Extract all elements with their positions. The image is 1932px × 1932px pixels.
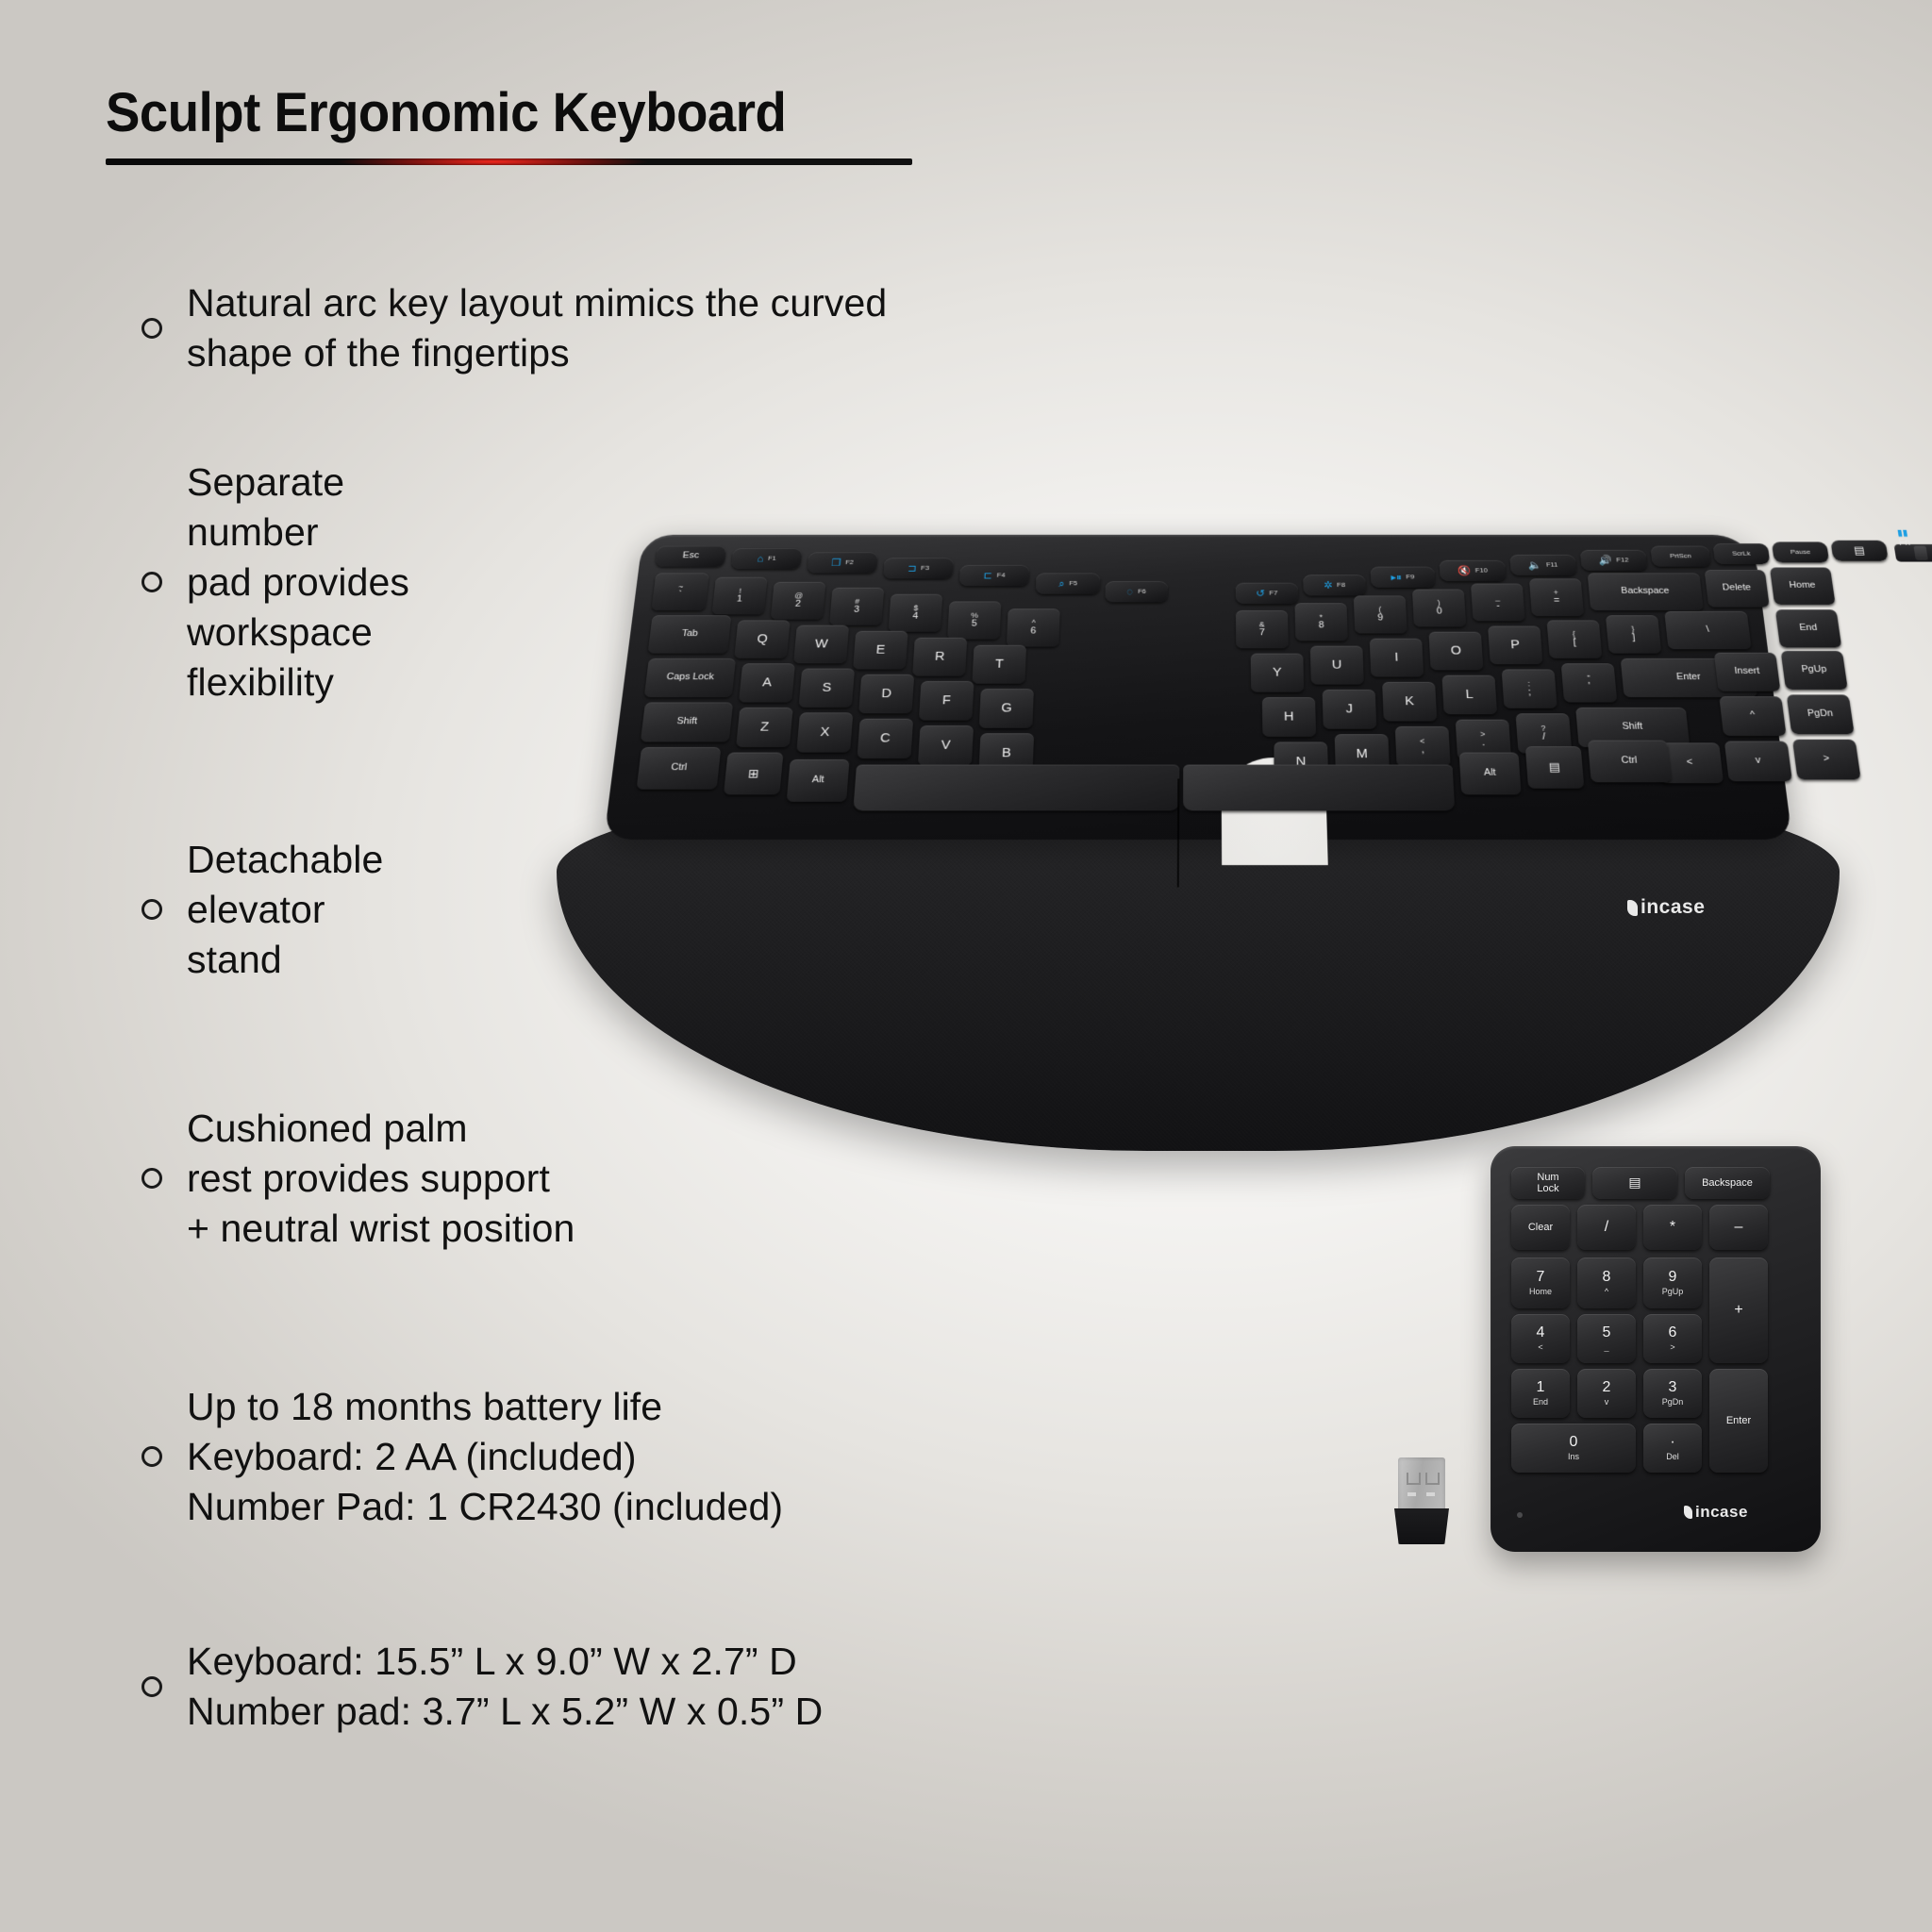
bullet-arc-layout: Natural arc key layout mimics the curved… xyxy=(142,278,887,378)
chevron-left-icon: < xyxy=(1686,758,1692,768)
bullet-text: Separate number pad provides workspace f… xyxy=(187,458,409,707)
key-f9[interactable]: ▸⏸F9 xyxy=(1371,567,1436,588)
key-ctrl-left[interactable]: Ctrl xyxy=(637,747,722,790)
volume-down-icon: 🔈 xyxy=(1528,560,1542,571)
windows-icon: ⊞ xyxy=(747,767,759,780)
key-pause[interactable]: Pause xyxy=(1772,541,1829,562)
menu-icon: ▤ xyxy=(1548,761,1560,774)
key-r[interactable]: R xyxy=(912,638,967,676)
key-f2[interactable]: ❐F2 xyxy=(807,552,877,573)
bullet-battery-life: Up to 18 months battery life Keyboard: 2… xyxy=(142,1382,783,1532)
key-h[interactable]: H xyxy=(1262,697,1316,737)
key-prtscn[interactable]: PrtScn xyxy=(1650,546,1710,567)
fn-toggle-knob xyxy=(1913,546,1928,560)
key-9[interactable]: ( 9 xyxy=(1354,595,1407,633)
key-f12[interactable]: 🔊F12 xyxy=(1580,550,1648,571)
key-i[interactable]: I xyxy=(1370,639,1424,677)
bullet-text: Cushioned palm rest provides support + n… xyxy=(187,1104,575,1254)
bullet-palm-rest: Cushioned palm rest provides support + n… xyxy=(142,1104,575,1254)
play-pause-icon: ▸⏸ xyxy=(1391,572,1402,582)
key-arrow-up[interactable]: ^ xyxy=(1719,696,1786,736)
key-2[interactable]: @ 2 xyxy=(771,582,826,620)
padkey-decimal[interactable]: · Del xyxy=(1643,1424,1702,1473)
bullet-dimensions: Keyboard: 15.5” L x 9.0” W x 2.7” D Numb… xyxy=(142,1637,823,1737)
chevron-down-icon: v xyxy=(1755,756,1761,766)
bullet-marker-icon xyxy=(142,318,162,339)
usb-slot-icon xyxy=(1425,1473,1440,1485)
key-q[interactable]: Q xyxy=(734,620,790,658)
key-f11[interactable]: 🔈F11 xyxy=(1509,555,1576,575)
key-f8[interactable]: ✲F8 xyxy=(1303,575,1366,595)
key-arrow-right[interactable]: > xyxy=(1792,740,1861,780)
bullet-marker-icon xyxy=(142,572,162,592)
padkey-clear[interactable]: Clear xyxy=(1511,1205,1570,1250)
key-y[interactable]: Y xyxy=(1251,654,1305,692)
key-menu[interactable]: ▤ xyxy=(1525,746,1585,789)
padkey-calculator[interactable]: ▤ xyxy=(1592,1167,1677,1199)
padkey-1[interactable]: 1 End xyxy=(1511,1369,1570,1418)
padkey-multiply[interactable]: * xyxy=(1643,1205,1702,1250)
search-icon: ⌕ xyxy=(1058,578,1065,589)
home-icon: ⌂ xyxy=(757,554,764,564)
padkey-3[interactable]: 3 PgDn xyxy=(1643,1369,1702,1418)
padkey-2[interactable]: 2 v xyxy=(1577,1369,1636,1418)
padkey-add[interactable]: + xyxy=(1709,1257,1768,1363)
usb-slot-icon xyxy=(1407,1473,1421,1485)
key-shift-left[interactable]: Shift xyxy=(641,703,733,742)
key-equals[interactable]: + = xyxy=(1529,578,1584,616)
window-icon: ❐ xyxy=(831,558,841,568)
mute-icon: 🔇 xyxy=(1457,566,1472,576)
key-1[interactable]: ! 1 xyxy=(711,577,767,615)
key-z[interactable]: Z xyxy=(736,708,793,747)
key-minus[interactable]: _ - xyxy=(1471,584,1525,622)
pad-status-led xyxy=(1517,1512,1523,1518)
number-pad-product-image: Num Lock ▤ Backspace Clear / * – 7 Home … xyxy=(1491,1146,1821,1552)
infographic-page: Sculpt Ergonomic Keyboard Natural arc ke… xyxy=(0,0,1932,1932)
key-backspace[interactable]: Backspace xyxy=(1588,573,1704,610)
key-bracket-left[interactable]: {[ xyxy=(1547,620,1603,658)
key-f[interactable]: F xyxy=(919,681,974,721)
key-s[interactable]: S xyxy=(799,669,856,708)
key-delete[interactable]: Delete xyxy=(1705,570,1770,608)
padkey-6[interactable]: 6 > xyxy=(1643,1314,1702,1363)
key-end[interactable]: End xyxy=(1775,609,1841,647)
key-bracket-right[interactable]: }] xyxy=(1606,615,1661,653)
key-j[interactable]: J xyxy=(1323,690,1377,729)
key-e[interactable]: E xyxy=(853,631,908,670)
chevron-right-icon: > xyxy=(1823,755,1830,765)
key-comma[interactable]: <, xyxy=(1395,726,1451,766)
key-alt-left[interactable]: Alt xyxy=(787,759,850,802)
key-0[interactable]: ) 0 xyxy=(1412,590,1466,627)
bullet-text: Up to 18 months battery life Keyboard: 2… xyxy=(187,1382,783,1532)
padkey-0[interactable]: 0 Ins xyxy=(1511,1424,1636,1473)
key-quote[interactable]: "' xyxy=(1561,663,1618,702)
padkey-divide[interactable]: / xyxy=(1577,1205,1636,1250)
key-o[interactable]: O xyxy=(1428,632,1483,671)
key-7[interactable]: & 7 xyxy=(1236,610,1289,648)
share-circle-icon: ◌ xyxy=(1126,587,1133,597)
key-f5[interactable]: ⌕F5 xyxy=(1036,573,1101,593)
key-4[interactable]: $ 4 xyxy=(889,594,943,632)
bullet-text: Natural arc key layout mimics the curved… xyxy=(187,278,887,378)
key-f10[interactable]: 🔇F10 xyxy=(1440,560,1507,581)
key-k[interactable]: K xyxy=(1382,682,1437,722)
share-left-icon: ⊐ xyxy=(908,563,917,574)
key-t[interactable]: T xyxy=(972,645,1026,684)
key-f3[interactable]: ⊐F3 xyxy=(883,558,954,578)
padkey-7[interactable]: 7 Home xyxy=(1511,1257,1570,1308)
title-underline-rule xyxy=(106,158,912,165)
key-u[interactable]: U xyxy=(1310,646,1364,685)
bullet-text: Keyboard: 15.5” L x 9.0” W x 2.7” D Numb… xyxy=(187,1637,823,1737)
bullet-text: Detachable elevator stand xyxy=(187,835,383,985)
key-pgup[interactable]: PgUp xyxy=(1781,651,1848,690)
key-x[interactable]: X xyxy=(796,712,853,752)
key-v[interactable]: V xyxy=(918,725,974,765)
key-3[interactable]: # 3 xyxy=(829,588,884,625)
key-w[interactable]: W xyxy=(793,625,849,664)
key-5[interactable]: % 5 xyxy=(947,602,1001,640)
key-g[interactable]: G xyxy=(979,689,1034,728)
key-arrow-down[interactable]: v xyxy=(1724,741,1792,782)
padkey-subtract[interactable]: – xyxy=(1709,1205,1768,1250)
key-a[interactable]: A xyxy=(739,663,795,702)
key-8[interactable]: * 8 xyxy=(1294,603,1347,641)
bullet-elevator-stand: Detachable elevator stand xyxy=(142,835,383,985)
key-semicolon[interactable]: :; xyxy=(1502,669,1557,708)
back-refresh-icon: ↺ xyxy=(1256,588,1265,598)
chevron-up-icon: ^ xyxy=(1750,711,1756,722)
bullet-marker-icon xyxy=(142,1168,162,1189)
key-insert-nav[interactable]: Insert xyxy=(1714,653,1781,691)
usb-plastic-base xyxy=(1394,1508,1449,1544)
key-alt-right[interactable]: Alt xyxy=(1459,753,1522,795)
bullet-marker-icon xyxy=(142,1446,162,1467)
key-c[interactable]: C xyxy=(857,719,913,758)
calculator-icon: ▤ xyxy=(1853,545,1865,557)
fn-switch-label: ▮▮ Fn xyxy=(1896,527,1910,547)
calculator-icon: ▤ xyxy=(1628,1175,1641,1190)
key-l[interactable]: L xyxy=(1441,675,1497,714)
bullet-marker-icon xyxy=(142,899,162,920)
volume-up-icon: 🔊 xyxy=(1598,555,1612,565)
incase-leaf-icon xyxy=(1627,900,1638,916)
key-pgdn[interactable]: PgDn xyxy=(1787,694,1855,734)
key-calculator[interactable]: ▤ xyxy=(1830,541,1888,561)
number-pad-brand-logo: incase xyxy=(1684,1503,1748,1522)
incase-leaf-icon xyxy=(1684,1506,1692,1519)
gear-icon: ✲ xyxy=(1324,580,1333,591)
key-caps-lock[interactable]: Caps Lock xyxy=(644,658,736,697)
key-f4[interactable]: ⊏F4 xyxy=(959,565,1030,586)
padkey-num-lock[interactable]: Num Lock xyxy=(1511,1167,1585,1199)
key-6[interactable]: ^ 6 xyxy=(1007,608,1060,646)
padkey-4[interactable]: 4 < xyxy=(1511,1314,1570,1363)
key-windows[interactable]: ⊞ xyxy=(724,753,784,795)
key-backslash[interactable]: \ xyxy=(1664,611,1751,649)
usb-connector-metal xyxy=(1398,1457,1445,1512)
display-right-icon: ⊏ xyxy=(983,571,992,581)
usb-pin xyxy=(1407,1492,1416,1496)
key-d[interactable]: D xyxy=(858,675,914,713)
key-space-left[interactable] xyxy=(853,765,1179,811)
key-esc[interactable]: Esc xyxy=(655,546,726,567)
bullet-number-pad: Separate number pad provides workspace f… xyxy=(142,458,409,707)
key-f7[interactable]: ↺F7 xyxy=(1236,583,1299,604)
padkey-5[interactable]: 5 _ xyxy=(1577,1314,1636,1363)
key-f6[interactable]: ◌F6 xyxy=(1105,581,1168,602)
usb-nano-receiver xyxy=(1394,1457,1449,1544)
keyboard-chassis: Esc ⌂F1 ❐F2 ⊐F3 ⊏F4 ⌕F5 ◌F6 ↺F7 xyxy=(604,535,1792,840)
keyboard-brand-logo: incase xyxy=(1627,896,1705,919)
page-title: Sculpt Ergonomic Keyboard xyxy=(106,81,786,144)
key-p[interactable]: P xyxy=(1488,626,1542,665)
key-scrlk[interactable]: ScrLk xyxy=(1713,543,1771,564)
key-f1[interactable]: ⌂F1 xyxy=(731,548,802,569)
key-home[interactable]: Home xyxy=(1770,567,1836,604)
bullet-marker-icon xyxy=(142,1676,162,1697)
padkey-backspace[interactable]: Backspace xyxy=(1685,1167,1770,1199)
key-space-right[interactable] xyxy=(1183,765,1455,811)
key-ctrl-right[interactable]: Ctrl xyxy=(1588,741,1672,783)
fn-indicator-icon: ▮▮ xyxy=(1896,528,1908,538)
padkey-enter[interactable]: Enter xyxy=(1709,1369,1768,1473)
key-tab[interactable]: Tab xyxy=(648,615,732,653)
padkey-8[interactable]: 8 ^ xyxy=(1577,1257,1636,1308)
keyboard-product-image: Esc ⌂F1 ❐F2 ⊐F3 ⊏F4 ⌕F5 ◌F6 ↺F7 xyxy=(566,491,1849,1170)
key-backtick[interactable]: ~ ` xyxy=(651,573,708,610)
padkey-9[interactable]: 9 PgUp xyxy=(1643,1257,1702,1308)
usb-pin xyxy=(1426,1492,1435,1496)
